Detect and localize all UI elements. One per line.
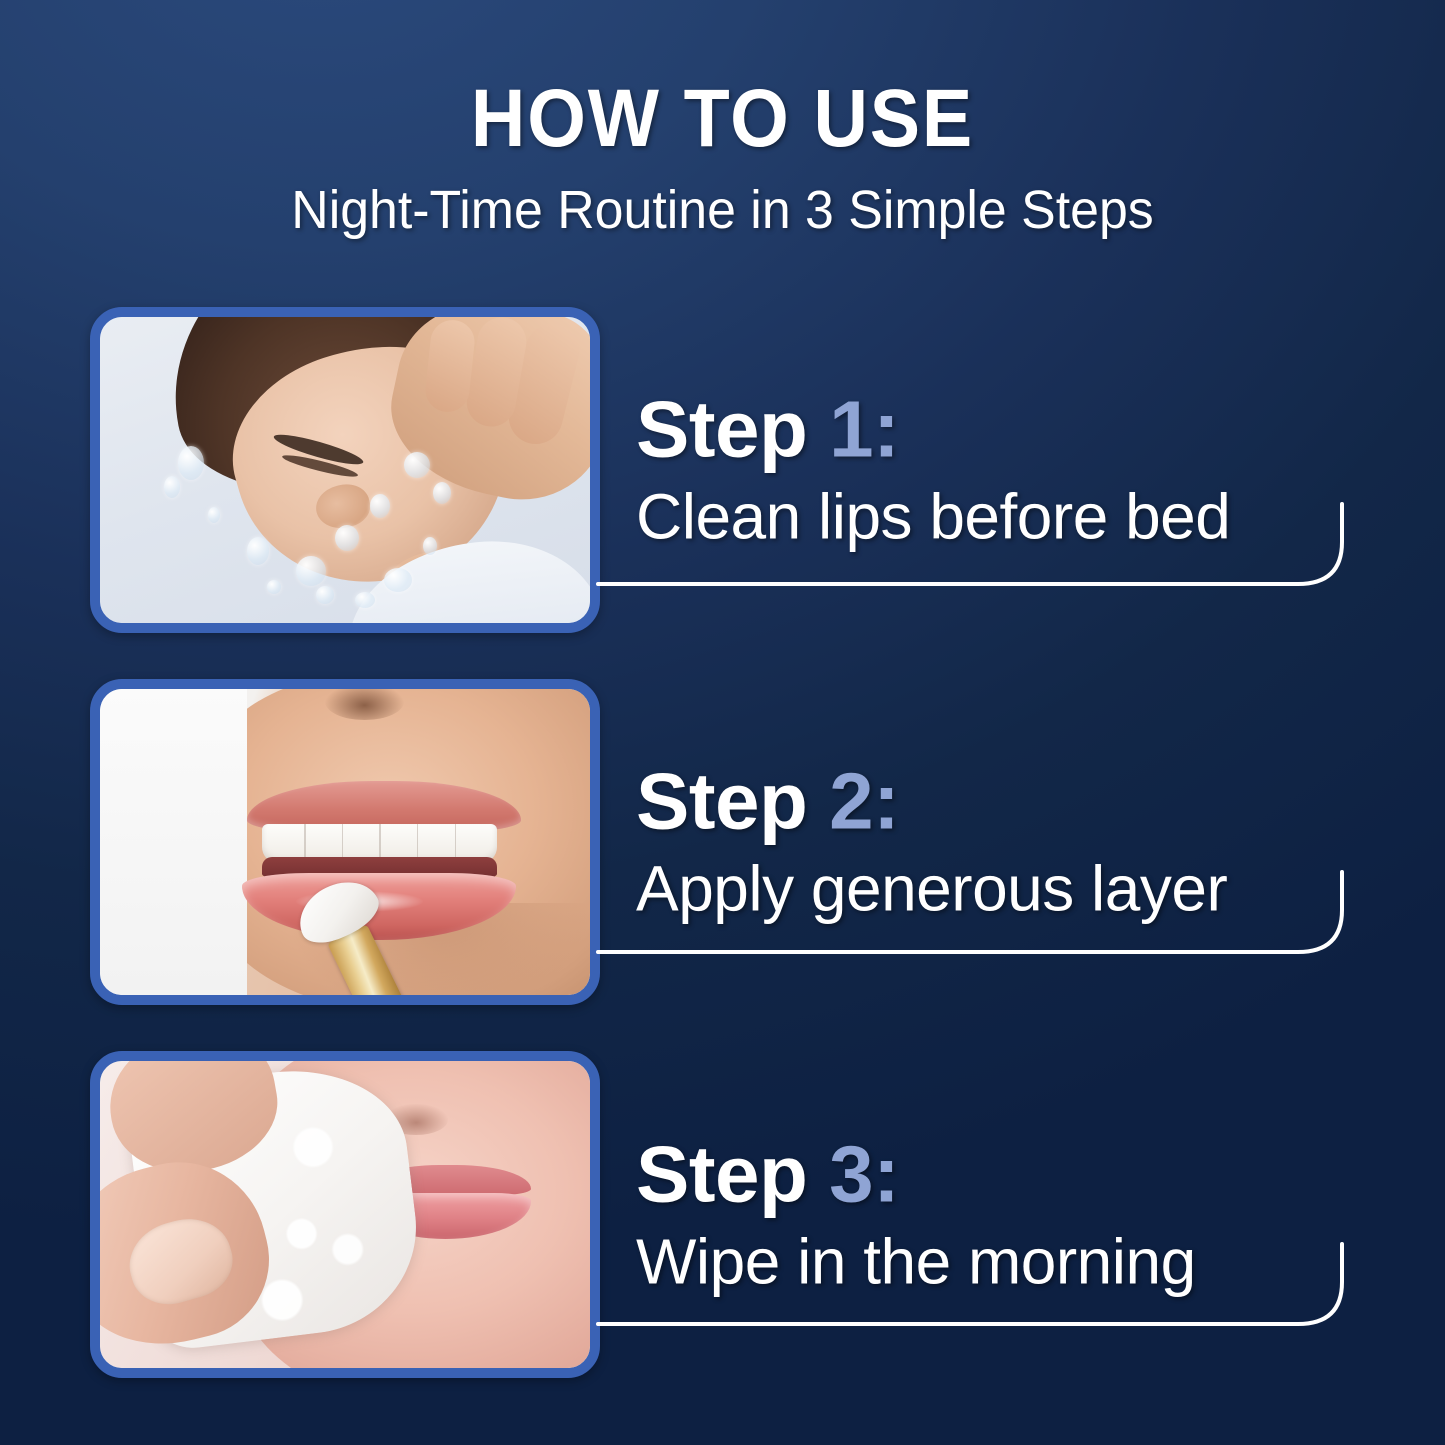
water-droplet bbox=[267, 580, 281, 594]
water-droplet bbox=[208, 507, 220, 523]
step-connector-arrow-icon bbox=[412, 625, 478, 633]
step-description: Clean lips before bed bbox=[636, 483, 1396, 550]
step-text-block: Step 3: Wipe in the morning bbox=[636, 1134, 1396, 1295]
water-droplet bbox=[316, 586, 334, 604]
step-description: Apply generous layer bbox=[636, 855, 1396, 922]
step-item: Step 2: Apply generous layer bbox=[0, 679, 1445, 1005]
step-description: Wipe in the morning bbox=[636, 1228, 1396, 1295]
step-label: Step bbox=[636, 756, 807, 845]
water-droplet bbox=[247, 537, 269, 565]
photo-applying-lip-product bbox=[100, 689, 590, 995]
step-label: Step bbox=[636, 384, 807, 473]
photo-wiping-lips-with-towel bbox=[100, 1061, 590, 1368]
water-droplet bbox=[164, 476, 180, 498]
water-droplet bbox=[178, 446, 204, 480]
step-heading: Step 1: bbox=[636, 389, 1396, 469]
step-photo-card bbox=[90, 679, 600, 1005]
water-droplet bbox=[370, 494, 390, 518]
step-photo-card bbox=[90, 307, 600, 633]
step-heading: Step 3: bbox=[636, 1134, 1396, 1214]
photo-white-panel bbox=[100, 689, 247, 995]
step-number: 2: bbox=[829, 756, 899, 845]
water-droplet bbox=[404, 452, 430, 478]
step-label: Step bbox=[636, 1129, 807, 1218]
photo-face-washing bbox=[100, 317, 590, 623]
step-text-block: Step 2: Apply generous layer bbox=[636, 761, 1396, 922]
step-number: 1: bbox=[829, 384, 899, 473]
water-droplet bbox=[384, 568, 412, 592]
step-photo-card bbox=[90, 1051, 600, 1378]
step-heading: Step 2: bbox=[636, 761, 1396, 841]
how-to-use-poster: HOW TO USE Night-Time Routine in 3 Simpl… bbox=[0, 0, 1445, 1445]
step-item: Step 1: Clean lips before bed bbox=[0, 307, 1445, 633]
step-number: 3: bbox=[829, 1129, 899, 1218]
step-connector-arrow-icon bbox=[412, 997, 478, 1005]
step-text-block: Step 1: Clean lips before bed bbox=[636, 389, 1396, 550]
steps-list: Step 1: Clean lips before bed bbox=[0, 0, 1445, 1445]
step-item: Step 3: Wipe in the morning bbox=[0, 1051, 1445, 1378]
water-droplet bbox=[296, 556, 326, 586]
